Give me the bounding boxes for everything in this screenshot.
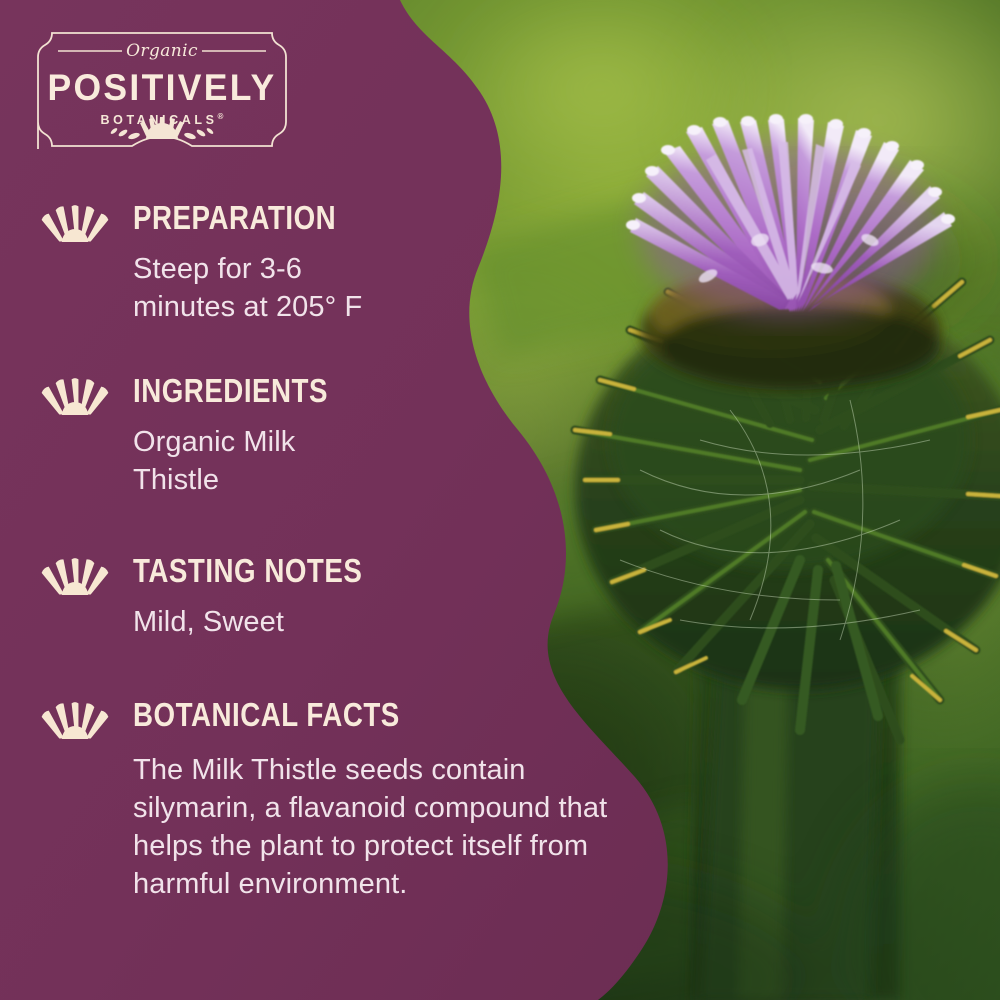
fan-shell-icon	[37, 697, 113, 739]
fan-shell-icon	[37, 553, 113, 595]
section-body: Steep for 3-6 minutes at 205° F	[133, 250, 362, 326]
logo-script-word: Organic	[36, 41, 288, 61]
fan-shell-icon	[37, 373, 113, 415]
section-heading: INGREDIENTS	[133, 371, 328, 411]
section-body: The Milk Thistle seeds contain silymarin…	[133, 751, 607, 903]
section-body: Organic Milk Thistle	[133, 423, 295, 499]
logo-subtitle: BOTANICALS®	[36, 112, 288, 127]
product-info-card: Organic POSITIVELY BOTANICALS® PREPA	[0, 0, 1000, 1000]
section-heading: PREPARATION	[133, 198, 336, 238]
fan-shell-icon	[37, 200, 113, 242]
logo-wordmark: POSITIVELY	[41, 67, 283, 109]
registered-mark: ®	[218, 112, 224, 121]
logo-subtitle-text: BOTANICALS	[101, 113, 218, 127]
section-body: Mild, Sweet	[133, 603, 284, 641]
info-content: Organic POSITIVELY BOTANICALS® PREPA	[0, 0, 1000, 1000]
section-heading: BOTANICAL FACTS	[133, 695, 400, 735]
section-heading: TASTING NOTES	[133, 551, 362, 591]
brand-logo[interactable]: Organic POSITIVELY BOTANICALS®	[36, 27, 288, 151]
